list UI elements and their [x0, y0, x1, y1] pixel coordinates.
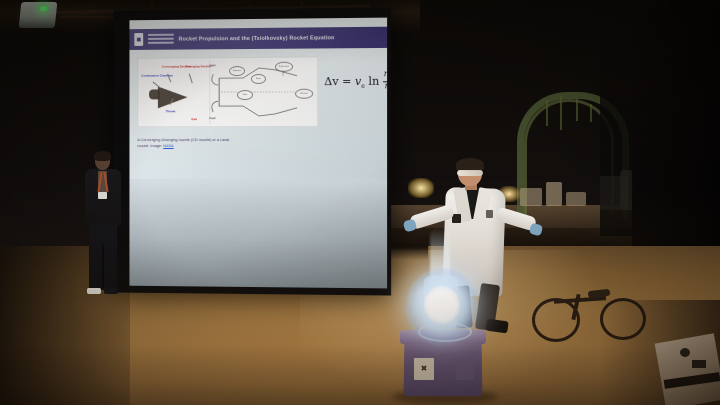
- vine-strand: [576, 99, 578, 121]
- vine-strand: [560, 96, 562, 130]
- label-throat: Throat: [166, 110, 175, 113]
- caption-line-2: nozzle. Image: NASA: [137, 143, 326, 149]
- nozzle-schematic-panel: Subsonic Sonic Supersonic Flow Exhaust I…: [211, 60, 315, 125]
- bicycle-on-floor: [530, 282, 642, 340]
- stage-prop: [546, 182, 562, 206]
- callout-flow: Flow: [237, 90, 253, 100]
- presentation-slide: ■ Rocket Propulsion and the (Tsiolkovsky…: [129, 18, 387, 180]
- nasa-link[interactable]: NASA: [163, 143, 173, 148]
- screen-lower-area: [129, 179, 387, 289]
- vine-strand: [546, 100, 548, 126]
- vine-strand: [590, 104, 592, 122]
- stage-curtain: [632, 0, 720, 250]
- slide-header-bar: ■ Rocket Propulsion and the (Tsiolkovsky…: [129, 27, 387, 50]
- safety-goggles-icon: [457, 170, 483, 176]
- stage-equipment-case: [655, 333, 720, 405]
- label-exit: Exit: [191, 118, 197, 121]
- equation-delta-v: Δv: [324, 75, 338, 88]
- person-standing-left: [80, 152, 126, 300]
- callout-inlet: Inlet: [209, 64, 215, 67]
- nozzle-photo-panel: Combustion Chamber Converging Section Di…: [140, 60, 210, 124]
- institution-logo-icon: ■: [134, 33, 143, 46]
- hazard-tag: ✖: [414, 358, 434, 380]
- stage-prop: [566, 192, 586, 206]
- callout-supersonic: Supersonic: [275, 62, 293, 72]
- equation-m0: m: [384, 69, 387, 78]
- rig-lamp-icon: [19, 2, 58, 28]
- institution-wordmark-icon: [148, 34, 174, 45]
- crate-side-label: [456, 362, 474, 380]
- screenshot-root: ■ Rocket Propulsion and the (Tsiolkovsky…: [0, 0, 720, 405]
- equation-ln: ln: [368, 75, 379, 88]
- callout-exhaust: Exhaust: [295, 89, 313, 99]
- slide-title: Rocket Propulsion and the (Tsiolkovsky) …: [179, 35, 335, 42]
- equation-mass-ratio: m0 mf: [383, 70, 387, 93]
- equation-equals: =: [342, 75, 351, 88]
- callout-fuel: Fuel: [209, 117, 215, 120]
- equipment-button-icon: [692, 360, 706, 368]
- screen-surface: ■ Rocket Propulsion and the (Tsiolkovsky…: [129, 18, 387, 289]
- rig-led-indicator: [40, 6, 47, 11]
- equation-ve-sub: e: [361, 83, 365, 90]
- caption-line-2-text: nozzle. Image:: [137, 143, 163, 148]
- callout-sonic: Sonic: [251, 74, 266, 84]
- nozzle-diagram: Combustion Chamber Converging Section Di…: [137, 57, 318, 128]
- lanyard-badge: [98, 192, 107, 199]
- projection-screen: ■ Rocket Propulsion and the (Tsiolkovsky…: [114, 7, 391, 295]
- equation-mf: m: [385, 81, 387, 90]
- equipment-knob-icon: [680, 348, 690, 357]
- flash-core: [424, 286, 460, 324]
- callout-subsonic: Subsonic: [229, 66, 245, 76]
- slide-caption: A Converging-Diverging nozzle (CD nozzle…: [137, 137, 326, 148]
- label-diverging-section: Diverging Section: [185, 65, 211, 68]
- rocket-equation: Δv = ve ln m0 mf: [324, 70, 387, 93]
